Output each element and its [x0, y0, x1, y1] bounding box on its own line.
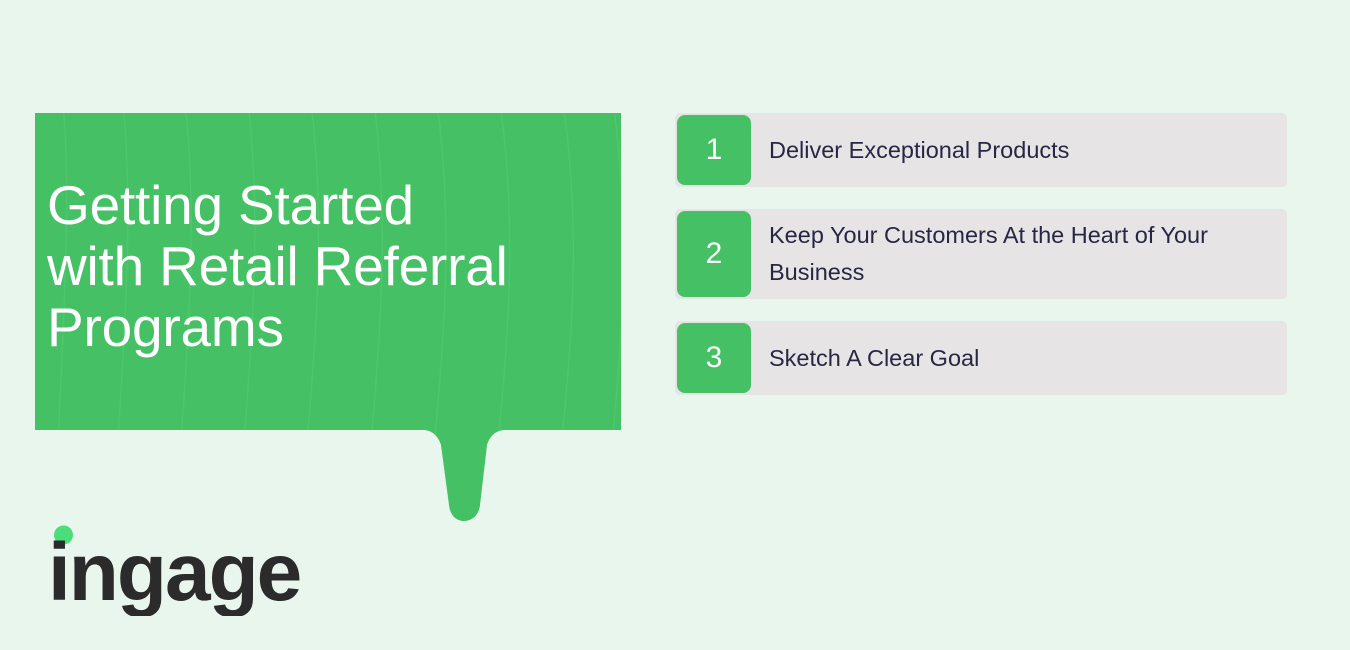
steps-list: 1 Deliver Exceptional Products 2 Keep Yo… [675, 113, 1287, 417]
list-item[interactable]: 2 Keep Your Customers At the Heart of Yo… [675, 209, 1287, 299]
speech-bubble: Getting Started with Retail Referral Pro… [35, 113, 621, 533]
slide-canvas: Getting Started with Retail Referral Pro… [0, 0, 1350, 650]
step-number-badge: 3 [677, 323, 751, 393]
list-item[interactable]: 1 Deliver Exceptional Products [675, 113, 1287, 187]
ingage-logo-mark: ingage [48, 516, 308, 616]
step-label: Sketch A Clear Goal [753, 321, 1287, 395]
step-number-badge: 1 [677, 115, 751, 185]
brand-logo: ingage [48, 516, 308, 616]
step-number-badge: 2 [677, 211, 751, 297]
page-title: Getting Started with Retail Referral Pro… [47, 175, 592, 358]
logo-wordmark: ingage [48, 527, 300, 616]
step-label: Deliver Exceptional Products [753, 113, 1287, 187]
step-label: Keep Your Customers At the Heart of Your… [753, 209, 1287, 299]
list-item[interactable]: 3 Sketch A Clear Goal [675, 321, 1287, 395]
